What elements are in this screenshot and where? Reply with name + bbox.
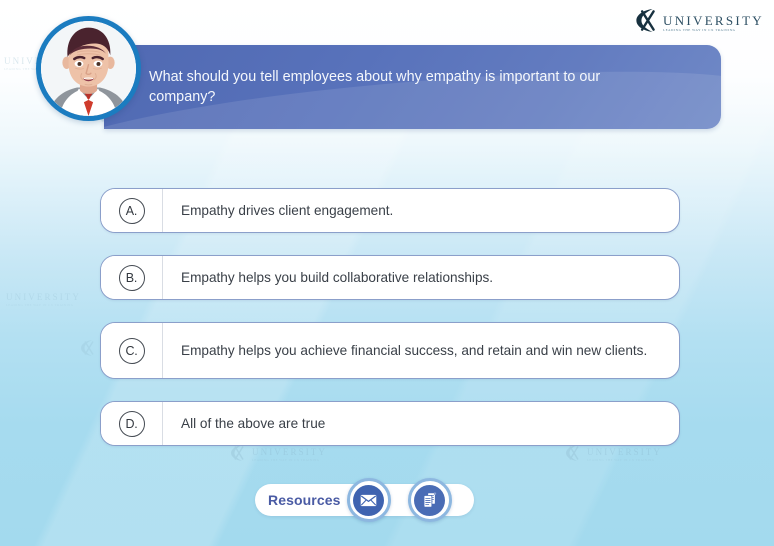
watermark-tagline: LEADING THE WAY IN CX TRAINING	[6, 304, 81, 307]
watermark-name: UNIVERSITY	[6, 293, 81, 302]
documents-resource-button[interactable]	[408, 478, 452, 522]
answer-option-c[interactable]: C. Empathy helps you achieve financial s…	[100, 322, 680, 379]
email-resource-button[interactable]	[347, 478, 391, 522]
documents-icon	[414, 485, 445, 516]
option-letter: D.	[119, 411, 145, 437]
option-text: Empathy drives client engagement.	[163, 189, 679, 232]
xc-monogram-icon	[0, 288, 2, 313]
xc-monogram-icon	[633, 7, 660, 39]
resources-bar: Resources	[255, 481, 452, 519]
question-text: What should you tell employees about why…	[149, 67, 661, 108]
option-letter: A.	[119, 198, 145, 224]
slide-canvas: UNIVERSITY LEADING THE WAY IN CX TRAININ…	[0, 0, 774, 546]
brand-text: UNIVERSITY LEADING THE WAY IN CX TRAININ…	[663, 14, 764, 33]
option-letter-cell: C.	[101, 323, 163, 378]
option-letter-cell: D.	[101, 402, 163, 445]
answer-option-d[interactable]: D. All of the above are true	[100, 401, 680, 446]
envelope-icon	[353, 485, 384, 516]
option-text: Empathy helps you achieve financial succ…	[163, 323, 679, 378]
xc-monogram-icon	[78, 338, 98, 363]
instructor-avatar	[36, 16, 141, 121]
option-letter-cell: A.	[101, 189, 163, 232]
option-text: All of the above are true	[163, 402, 679, 445]
brand-logo: UNIVERSITY LEADING THE WAY IN CX TRAININ…	[633, 7, 764, 39]
answer-option-b[interactable]: B. Empathy helps you build collaborative…	[100, 255, 680, 300]
brand-tagline: LEADING THE WAY IN CX TRAINING	[663, 29, 764, 32]
option-text: Empathy helps you build collaborative re…	[163, 256, 679, 299]
watermark: UNIVERSITY LEADING THE WAY IN CX TRAININ…	[0, 288, 81, 313]
option-letter: C.	[119, 338, 145, 364]
resources-label: Resources	[268, 492, 341, 508]
answer-options-list: A. Empathy drives client engagement. B. …	[100, 188, 680, 468]
question-banner: What should you tell employees about why…	[104, 45, 721, 129]
brand-name: UNIVERSITY	[663, 14, 764, 27]
watermark-text: UNIVERSITY LEADING THE WAY IN CX TRAININ…	[6, 293, 81, 307]
option-letter: B.	[119, 265, 145, 291]
option-letter-cell: B.	[101, 256, 163, 299]
answer-option-a[interactable]: A. Empathy drives client engagement.	[100, 188, 680, 233]
